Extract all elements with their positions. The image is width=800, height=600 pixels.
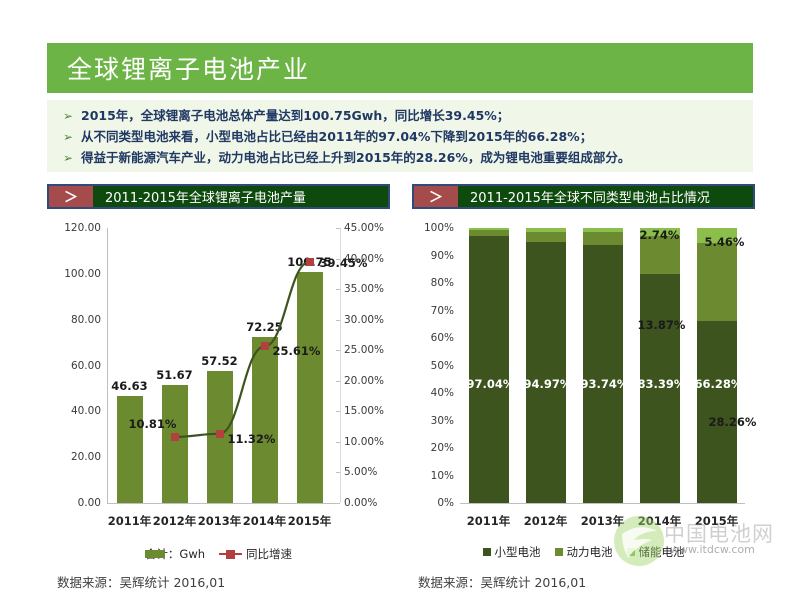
growth-rate-value-label: 10.81% [129,417,177,431]
stack-segment-动力电池-2015年[interactable] [697,243,737,321]
panel-header-left: ＞ 2011-2015年全球锂离子电池产量 [47,184,390,209]
growth-rate-marker[interactable] [306,258,314,266]
bullet-text: 2015年，全球锂离子电池总体产量达到100.75Gwh，同比增长39.45%； [81,106,509,126]
y2-axis-tick-label: 25.00% [344,344,396,356]
y-axis-tick-label: 0% [412,497,454,509]
legend-item-power-battery[interactable]: 动力电池 [555,544,613,560]
bar-total-2012年[interactable] [162,385,188,503]
y2-axis-tick-label: 5.00% [344,466,396,478]
stack-value-label-small: 66.28% [695,377,743,391]
stack-value-label-power: 28.26% [709,415,757,429]
legend-item-storage-battery[interactable]: 储能电池 [627,544,685,560]
legend-item-growth[interactable]: 同比增速 [219,546,292,562]
y2-axis-tick-label: 15.00% [344,405,396,417]
stack-value-label-small: 97.04% [467,377,515,391]
summary-bullets: ➢ 2015年，全球锂离子电池总体产量达到100.75Gwh，同比增长39.45… [47,100,753,172]
bullet-item: ➢ 2015年，全球锂离子电池总体产量达到100.75Gwh，同比增长39.45… [47,106,753,127]
page-title: 全球锂离子电池产业 [47,50,310,86]
x-axis-tick-label: 2013年 [198,513,242,529]
stack-value-label-power: 13.87% [638,318,686,332]
y-axis-tick-label: 100.00 [51,268,101,280]
bullet-item: ➢ 从不同类型电池来看，小型电池占比已经由2011年的97.04%下降到2015… [47,127,753,148]
bar-total-2011年[interactable] [117,396,143,503]
y-axis-tick-label: 30% [412,415,454,427]
stack-segment-小型电池-2012年[interactable] [526,242,566,503]
panel-title-right: 2011-2015年全球不同类型电池占比情况 [458,186,710,207]
legend-label-power-battery: 动力电池 [567,544,613,560]
y-axis-tick-label: 0.00 [51,497,101,509]
y-axis-tick-label: 60% [412,332,454,344]
y-axis-tick-label: 40% [412,387,454,399]
growth-rate-value-label: 25.61% [273,344,321,358]
x-axis-tick-label: 2014年 [638,513,682,529]
legend-item-small-battery[interactable]: 小型电池 [483,544,541,560]
panel-title-left: 2011-2015年全球锂离子电池产量 [93,186,306,207]
stack-segment-小型电池-2015年[interactable] [697,321,737,503]
chart-production: 0.0020.0040.0060.0080.00100.00120.000.00… [47,215,390,560]
bullet-arrow-icon: ➢ [63,148,81,168]
legend-label-storage-battery: 储能电池 [639,544,685,560]
stack-segment-小型电池-2013年[interactable] [583,245,623,503]
chevron-right-icon: ＞ [49,186,93,207]
legend-swatch-small-battery [483,548,491,556]
bullet-text: 得益于新能源汽车产业，动力电池占比已经上升到2015年的28.26%，成为锂电池… [81,148,630,168]
legend-production: 合计：Gwh 同比增速 [47,546,390,562]
chart-share-by-type: 0%10%20%30%40%50%60%70%80%90%100%97.04%9… [412,215,755,560]
slide-root: 全球锂离子电池产业 ➢ 2015年，全球锂离子电池总体产量达到100.75Gwh… [0,0,800,600]
y2-axis-tick-label: 0.00% [344,497,396,509]
stack-value-label-small: 83.39% [638,377,686,391]
legend-share-by-type: 小型电池 动力电池 储能电池 [412,544,755,560]
y-axis-tick-label: 70% [412,305,454,317]
bullet-text: 从不同类型电池来看，小型电池占比已经由2011年的97.04%下降到2015年的… [81,127,592,147]
growth-rate-value-label: 39.45% [320,256,368,270]
x-axis-tick-label: 2012年 [524,513,568,529]
legend-swatch-power-battery [555,548,563,556]
bullet-arrow-icon: ➢ [63,127,81,147]
legend-swatch-total [145,550,165,558]
bar-value-label: 72.25 [246,320,282,334]
x-axis-tick-label: 2013年 [581,513,625,529]
chart-share-by-type-plot: 0%10%20%30%40%50%60%70%80%90%100%97.04%9… [412,215,755,560]
x-axis-line [107,503,336,504]
bar-value-label: 46.63 [111,379,147,393]
growth-rate-marker[interactable] [261,342,269,350]
y-axis-tick-label: 90% [412,250,454,262]
x-axis-tick-label: 2015年 [695,513,739,529]
y-axis-tick-label: 10% [412,470,454,482]
y-axis-line [107,228,108,503]
y-axis-tick-label: 40.00 [51,405,101,417]
y2-axis-tick-label: 30.00% [344,314,396,326]
y2-axis-tick-label: 10.00% [344,436,396,448]
bullet-arrow-icon: ➢ [63,106,81,126]
bar-value-label: 57.52 [201,354,237,368]
y-axis-tick-label: 50% [412,360,454,372]
stack-segment-动力电池-2012年[interactable] [526,232,566,242]
y2-axis-tick-label: 45.00% [344,222,396,234]
growth-rate-marker[interactable] [216,430,224,438]
bullet-item: ➢ 得益于新能源汽车产业，动力电池占比已经上升到2015年的28.26%，成为锂… [47,148,753,169]
x-axis-tick-label: 2014年 [243,513,287,529]
x-axis-tick-label: 2015年 [288,513,332,529]
slide-title-band: 全球锂离子电池产业 [47,43,753,93]
chevron-right-icon: ＞ [414,186,458,207]
x-axis-tick-label: 2012年 [153,513,197,529]
stack-segment-储能电池-2011年[interactable] [469,228,509,230]
y-axis-tick-label: 20% [412,442,454,454]
y2-axis-tick-label: 20.00% [344,375,396,387]
stack-segment-储能电池-2012年[interactable] [526,228,566,232]
y-axis-tick-label: 120.00 [51,222,101,234]
y-axis-tick-label: 100% [412,222,454,234]
y-axis-tick-label: 80% [412,277,454,289]
legend-label-growth: 同比增速 [246,546,292,562]
stack-value-label-small: 94.97% [524,377,572,391]
stack-segment-动力电池-2013年[interactable] [583,232,623,245]
legend-item-total[interactable]: 合计：Gwh [145,546,205,562]
bar-value-label: 51.67 [156,368,192,382]
stack-segment-储能电池-2013年[interactable] [583,228,623,232]
stack-segment-动力电池-2011年[interactable] [469,230,509,236]
x-axis-tick-label: 2011年 [467,513,511,529]
x-axis-tick-label: 2011年 [108,513,152,529]
source-note-right: 数据来源：吴辉统计 2016,01 [418,572,586,591]
stack-value-label-storage: 2.74% [640,228,680,242]
y-axis-tick-label: 80.00 [51,314,101,326]
bar-total-2015年[interactable] [297,272,323,503]
stack-segment-小型电池-2011年[interactable] [469,236,509,503]
bar-total-2014年[interactable] [252,337,278,503]
y-axis-tick-label: 60.00 [51,360,101,372]
stack-value-label-storage: 5.46% [705,235,745,249]
x-axis-line [460,503,745,504]
y-axis-tick-label: 20.00 [51,451,101,463]
legend-label-small-battery: 小型电池 [495,544,541,560]
source-note-left: 数据来源：吴辉统计 2016,01 [57,572,225,591]
panel-header-right: ＞ 2011-2015年全球不同类型电池占比情况 [412,184,755,209]
y2-axis-tick-label: 35.00% [344,283,396,295]
growth-rate-value-label: 11.32% [228,432,276,446]
stack-value-label-small: 93.74% [581,377,629,391]
y2-axis-tickmark [336,503,340,504]
growth-rate-marker[interactable] [171,433,179,441]
legend-swatch-growth [219,550,242,559]
legend-swatch-storage-battery [627,548,635,556]
